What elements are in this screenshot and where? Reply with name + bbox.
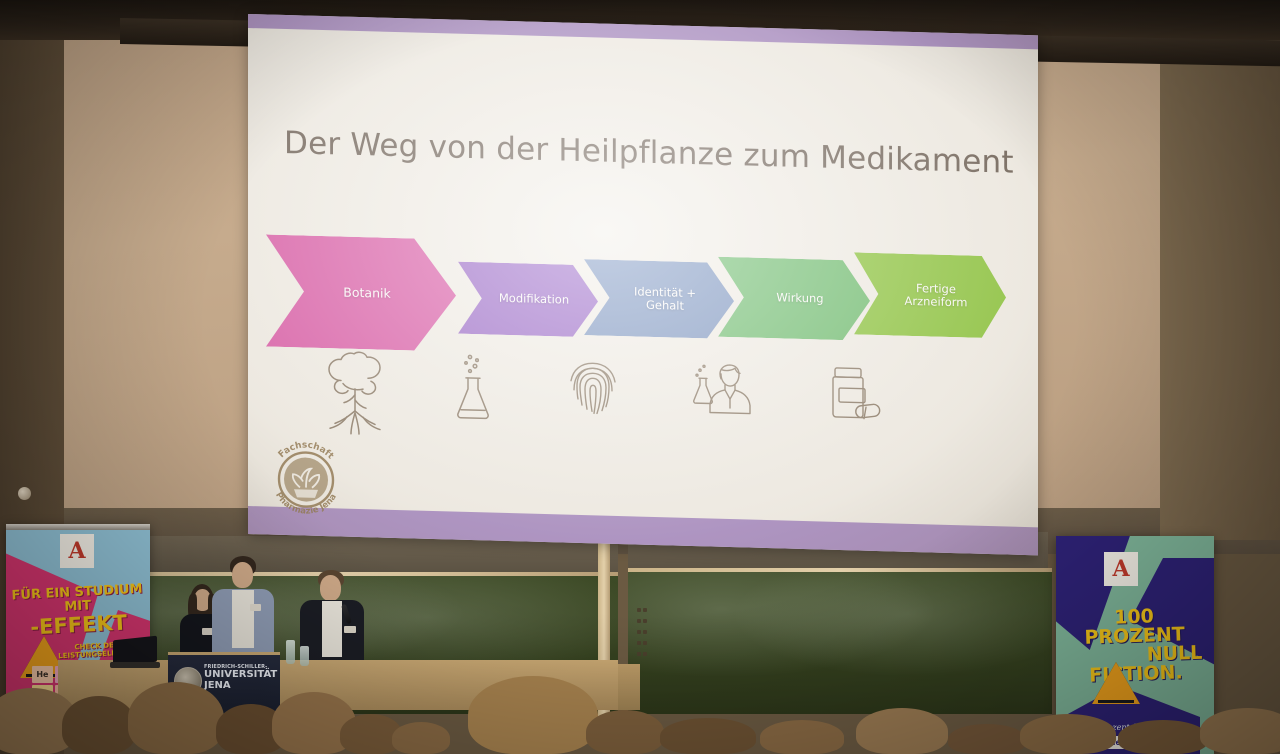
presenter-center-badge	[250, 604, 261, 611]
audience-head	[586, 710, 664, 754]
presenter-right-head	[320, 575, 341, 601]
presenter-right-shirt	[322, 601, 342, 657]
banner-left-rod	[6, 524, 150, 530]
chevron-step-5-label-2: Arzneiform	[904, 295, 967, 310]
right-wall	[1160, 0, 1280, 540]
chevron-step-3-label-2: Gehalt	[634, 298, 696, 313]
fachschaft-logo: Fachschaft Pharmazie Jena	[258, 432, 354, 521]
chevron-step-5[interactable]: Fertige Arzneiform	[854, 252, 1006, 338]
audience-head	[760, 720, 844, 754]
audience-head	[948, 724, 1026, 754]
chevron-step-2[interactable]: Modifikation	[458, 262, 598, 338]
presenter-center-head	[232, 562, 253, 588]
presenter-right-badge	[344, 626, 356, 633]
banner-right-pharmacy-logo: A	[1104, 552, 1138, 586]
audience-head	[856, 708, 948, 754]
banner-left-headline: FÜR EIN STUDIUM MIT -EFFEKT	[11, 583, 145, 640]
tree-icon	[310, 350, 400, 442]
flask-icon	[438, 351, 508, 433]
presenter-center	[212, 556, 274, 664]
audience-head	[392, 722, 450, 754]
presenter-center-shirt	[232, 590, 254, 648]
projection-screen: Der Weg von der Heilpflanze zum Medikame…	[248, 14, 1038, 555]
element-tile: He	[32, 666, 53, 683]
slide-title: Der Weg von der Heilpflanze zum Medikame…	[284, 125, 1014, 181]
chevron-step-4-label: Wirkung	[776, 291, 823, 306]
audience-head	[128, 682, 224, 754]
audience-row	[0, 684, 1280, 754]
process-icon-row	[266, 348, 1026, 469]
slide-content: Der Weg von der Heilpflanze zum Medikame…	[248, 28, 1038, 527]
audience-head	[660, 718, 756, 754]
audience-head	[1020, 714, 1116, 754]
presenter-right	[300, 570, 364, 670]
process-flow-chevrons: Botanik Modifikation Identität + Gehalt …	[266, 228, 1026, 369]
lecture-hall-scene: Der Weg von der Heilpflanze zum Medikame…	[0, 0, 1280, 754]
banner-left-headline-line1: FÜR EIN	[11, 585, 70, 603]
pharmacy-a-glyph: A	[68, 538, 85, 564]
audience-head	[468, 676, 598, 754]
chevron-step-2-label: Modifikation	[499, 291, 569, 307]
fingerprint-icon	[556, 358, 630, 436]
chevron-step-1[interactable]: Botanik	[266, 234, 456, 351]
audience-head	[1118, 720, 1208, 754]
audience-head	[62, 696, 136, 754]
water-bottle-2[interactable]	[300, 646, 309, 666]
scientist-icon	[682, 360, 766, 440]
chalkboard-post-dots-2	[643, 608, 653, 656]
pharmacy-a-glyph: A	[1112, 556, 1129, 582]
pill-bottle-icon	[814, 365, 892, 441]
wall-switch[interactable]	[18, 487, 31, 500]
audience-head	[1200, 708, 1280, 754]
chevron-step-3[interactable]: Identität + Gehalt	[584, 259, 734, 339]
water-bottle[interactable]	[286, 640, 295, 664]
chevron-step-4[interactable]: Wirkung	[718, 257, 870, 341]
laptop-base[interactable]	[110, 662, 160, 668]
chevron-step-1-label: Botanik	[343, 284, 390, 300]
banner-left-headline-line2: STUDIUM MIT	[64, 582, 143, 615]
banner-left-pharmacy-logo: A	[60, 534, 94, 568]
